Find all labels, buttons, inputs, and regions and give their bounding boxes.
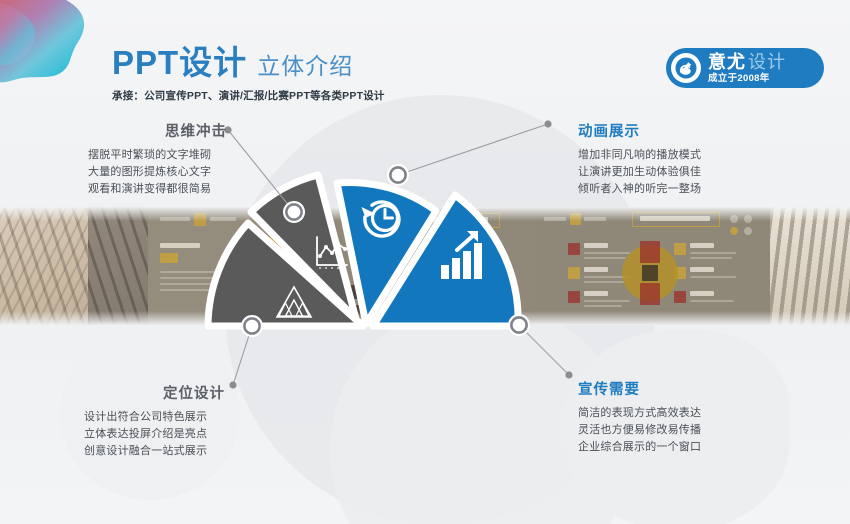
logo-name-light: 设计 — [748, 53, 786, 71]
page-subtitle: 立体介绍 — [257, 55, 353, 78]
info-line: 让演讲更加生动体验俱佳 — [578, 164, 808, 181]
logo-name-bold: 意尤 — [708, 53, 746, 71]
title-row: PPT设计 立体介绍 — [112, 46, 385, 79]
page-description: 承接：公司宣传PPT、演讲/汇报/比赛PPT等各类PPT设计 — [112, 88, 385, 103]
info-heading-positioning: 定位设计 — [84, 382, 316, 403]
connector-line-animation — [398, 124, 548, 175]
pen-in-circle-icon — [675, 57, 697, 79]
logo-badge — [671, 53, 701, 83]
info-line: 设计出符合公司特色展示 — [84, 409, 316, 426]
info-line: 大量的图形提炼核心文字 — [88, 164, 318, 181]
band-overlay — [0, 207, 850, 325]
photo-band — [0, 207, 850, 325]
info-line: 增加非同凡响的播放模式 — [578, 147, 808, 164]
slide-canvas: PPT设计 立体介绍 承接：公司宣传PPT、演讲/汇报/比赛PPT等各类PPT设… — [0, 0, 850, 524]
info-block-animation: 动画展示 增加非同凡响的播放模式 让演讲更加生动体验俱佳 倾听者入神的听完一整场 — [578, 120, 808, 198]
info-block-positioning: 定位设计 设计出符合公司特色展示 立体表达投屏介绍是亮点 创意设计融合一站式展示 — [84, 382, 316, 460]
info-block-thinking: 思维冲击 摆脱平时繁琐的文字堆砌 大量的图形提炼核心文字 观看和演讲变得都很简易 — [88, 120, 318, 198]
decorative-gradient-blob — [0, 0, 116, 94]
info-block-promotion: 宣传需要 简洁的表现方式高效表达 灵活也方便易修改易传播 企业综合展示的一个窗口 — [578, 378, 810, 456]
info-heading-animation: 动画展示 — [578, 120, 808, 141]
info-heading-promotion: 宣传需要 — [578, 378, 810, 399]
connector-endpoint-animation — [544, 120, 551, 127]
page-header: PPT设计 立体介绍 承接：公司宣传PPT、演讲/汇报/比赛PPT等各类PPT设… — [112, 46, 385, 103]
connector-line-promotion — [519, 325, 569, 375]
info-line: 摆脱平时繁琐的文字堆砌 — [88, 147, 318, 164]
logo-name-row: 意尤 设计 — [708, 53, 786, 71]
info-line: 倾听者入神的听完一整场 — [578, 181, 808, 198]
info-heading-thinking: 思维冲击 — [88, 120, 318, 141]
connector-node-animation — [389, 166, 407, 184]
info-line: 创意设计融合一站式展示 — [84, 443, 316, 460]
connector-endpoint-promotion — [565, 371, 572, 378]
info-line: 立体表达投屏介绍是亮点 — [84, 426, 316, 443]
info-line: 企业综合展示的一个窗口 — [578, 439, 810, 456]
connector-line-positioning — [233, 326, 252, 385]
info-line: 简洁的表现方式高效表达 — [578, 405, 810, 422]
connector-node-animation-ring — [390, 167, 405, 182]
logo-text: 意尤 设计 成立于2008年 — [708, 53, 786, 84]
company-logo[interactable]: 意尤 设计 成立于2008年 — [666, 48, 824, 88]
info-line: 灵活也方便易修改易传播 — [578, 422, 810, 439]
info-line: 观看和演讲变得都很简易 — [88, 181, 318, 198]
logo-established: 成立于2008年 — [708, 74, 786, 84]
page-title: PPT设计 — [112, 46, 247, 79]
